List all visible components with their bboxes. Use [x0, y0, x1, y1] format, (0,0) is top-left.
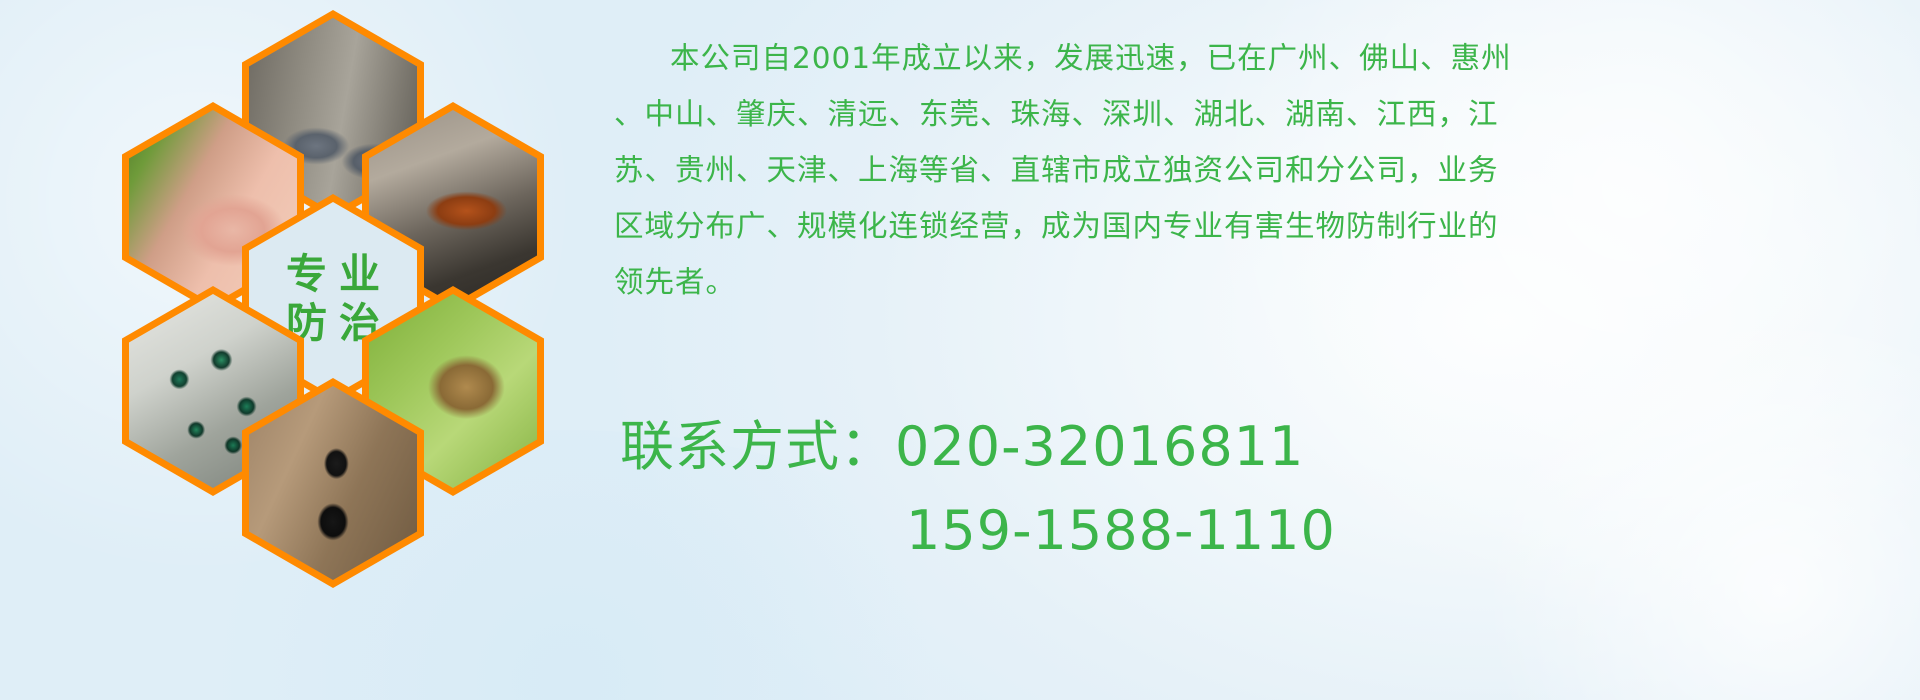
promo-banner: 专业 防治 本公司自2001年成立以来，发展迅速，已在广州、佛山、惠州 、中山、…	[0, 0, 1920, 700]
intro-text: 本公司自2001年成立以来，发展迅速，已在广州、佛山、惠州 、中山、肇庆、清远、…	[614, 30, 1904, 310]
ant-photo	[249, 386, 417, 580]
intro-line-3: 苏、贵州、天津、上海等省、直辖市成立独资公司和分公司，业务	[614, 142, 1904, 198]
contact-phone-landline[interactable]: 联系方式：020-32016811	[620, 405, 1910, 489]
slogan-line-1: 专业	[274, 253, 392, 296]
honeycomb-collage: 专业 防治	[90, 0, 590, 572]
contact-block: 联系方式：020-32016811 159-1588-1110	[620, 405, 1910, 573]
company-intro-paragraph: 本公司自2001年成立以来，发展迅速，已在广州、佛山、惠州 、中山、肇庆、清远、…	[614, 30, 1904, 310]
hex-inner-ant	[249, 386, 417, 580]
intro-line-2: 、中山、肇庆、清远、东莞、珠海、深圳、湖北、湖南、江西，江	[614, 86, 1904, 142]
intro-line-1: 本公司自2001年成立以来，发展迅速，已在广州、佛山、惠州	[614, 30, 1904, 86]
intro-line-5: 领先者。	[614, 254, 1904, 310]
contact-phone-mobile[interactable]: 159-1588-1110	[620, 489, 1910, 573]
intro-line-4: 区域分布广、规模化连锁经营，成为国内专业有害生物防制行业的	[614, 198, 1904, 254]
